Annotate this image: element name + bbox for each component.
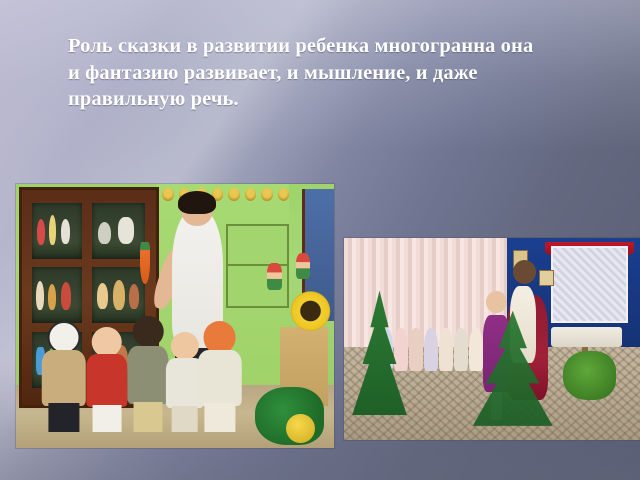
- child-legs: [133, 402, 162, 432]
- garland-bead: [162, 188, 173, 201]
- shelf-toy: [37, 219, 45, 245]
- photo-fairy-tale-performance: [344, 238, 640, 440]
- seated-audience: [380, 319, 498, 372]
- shelf-toy: [98, 222, 111, 244]
- shelf-toy: [129, 284, 139, 309]
- slide-title: Роль сказки в развитии ребенка многогран…: [68, 33, 622, 113]
- child-in-fox-costume: [197, 321, 242, 432]
- child-in-dog-costume: [41, 321, 86, 432]
- child-head: [91, 327, 122, 358]
- pumpkin-prop: [286, 414, 315, 443]
- shelf-toy: [49, 215, 56, 245]
- shelf-toy: [97, 283, 108, 309]
- audience-child: [409, 328, 423, 371]
- shelf-toy: [61, 219, 70, 244]
- shelf-toy: [61, 282, 71, 310]
- decorated-table: [551, 327, 622, 347]
- audience-child: [424, 328, 438, 371]
- photo-right-content: [344, 238, 640, 440]
- carrot-decoration: [140, 242, 150, 284]
- cabinet-shelf: [32, 267, 83, 323]
- teacher-hair: [178, 191, 216, 215]
- child-body: [41, 350, 86, 405]
- garland-bead: [245, 188, 256, 201]
- shelf-toy: [36, 281, 44, 310]
- title-line-3: правильную речь.: [68, 86, 622, 113]
- cabinet-shelf: [32, 203, 83, 259]
- cabinet-shelf: [92, 267, 146, 323]
- gnome-wall-decoration: [267, 263, 281, 289]
- audience-child: [439, 328, 453, 371]
- wall-picture: [539, 270, 554, 286]
- child-legs: [48, 403, 79, 432]
- child-in-vest: [127, 316, 168, 432]
- child-legs: [171, 406, 198, 432]
- shelf-toy: [48, 284, 56, 310]
- green-bush-prop: [563, 351, 616, 399]
- photo-left-content: [16, 184, 334, 448]
- child-body: [86, 354, 127, 407]
- shelf-toy: [113, 280, 125, 310]
- girl-head: [486, 291, 507, 313]
- shelf-toy: [118, 217, 134, 244]
- lace-window-decoration: [551, 246, 628, 323]
- audience-child: [469, 328, 483, 371]
- audience-child: [454, 328, 468, 371]
- child-head: [133, 316, 164, 347]
- child-legs: [92, 405, 121, 432]
- child-legs: [204, 403, 235, 432]
- title-line-1: Роль сказки в развитии ребенка многогран…: [68, 33, 622, 60]
- child-body: [127, 346, 168, 404]
- photo-kindergarten-costumed-children: [16, 184, 334, 448]
- cabinet-shelf: [92, 203, 146, 259]
- child-head: [170, 332, 198, 360]
- slide: Роль сказки в развитии ребенка многогран…: [0, 0, 640, 480]
- title-line-2: и фантазию развивает, и мышление, и даже: [68, 60, 622, 87]
- garland-bead: [228, 188, 239, 201]
- garland-bead: [261, 188, 272, 201]
- audience-child: [394, 328, 408, 371]
- child-in-yellow-kerchief: [86, 327, 127, 433]
- gnome-wall-decoration: [296, 253, 310, 279]
- child-body: [197, 350, 242, 405]
- garland-bead: [278, 188, 289, 201]
- sunflower-decoration: [290, 290, 331, 332]
